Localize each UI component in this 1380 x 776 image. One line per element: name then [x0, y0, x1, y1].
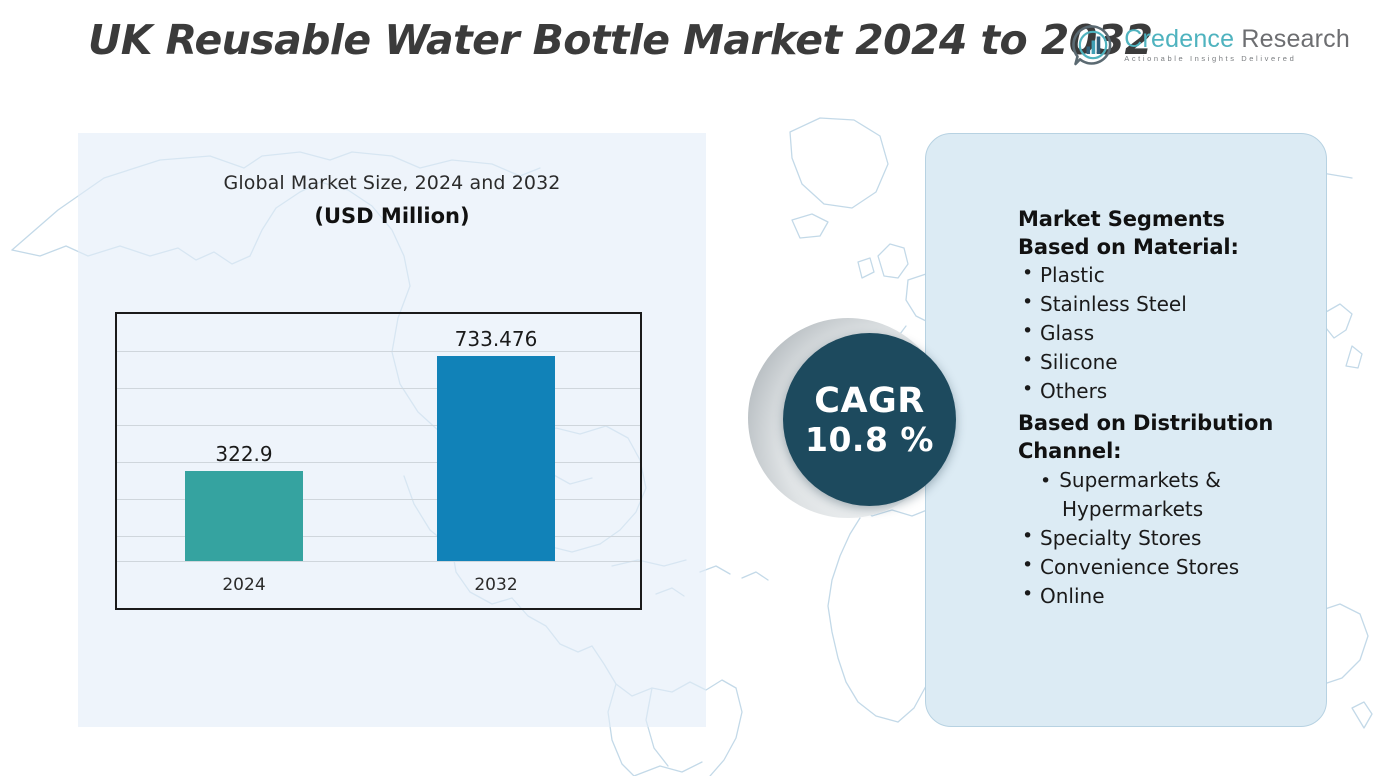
bar-group-2024: 322.9 2024 [185, 350, 303, 561]
bar-category-2032: 2032 [474, 575, 517, 595]
material-heading-line2: Based on Material: [1018, 234, 1326, 262]
bar-2032 [437, 356, 555, 561]
cagr-badge: CAGR 10.8 % [748, 318, 978, 538]
bar-2024 [185, 471, 303, 561]
chart-caption-units: (USD Million) [78, 204, 706, 228]
credence-research-logo: Credence Research Actionable Insights De… [1071, 23, 1350, 67]
cagr-value: 10.8 % [805, 423, 934, 456]
bar-chart-circle-icon [1071, 23, 1115, 67]
logo-tagline: Actionable Insights Delivered [1124, 55, 1350, 63]
list-item: Convenience Stores [1018, 553, 1326, 582]
chart-caption: Global Market Size, 2024 and 2032 (USD M… [78, 172, 706, 228]
bar-value-2032: 733.476 [455, 327, 538, 351]
cagr-circle: CAGR 10.8 % [783, 333, 956, 506]
logo-word-credence: Credence [1124, 25, 1234, 53]
header: UK Reusable Water Bottle Market 2024 to … [0, 0, 1380, 88]
cagr-label: CAGR [814, 384, 924, 419]
bar-group-2032: 733.476 2032 [437, 350, 555, 561]
list-item: Others [1018, 377, 1326, 406]
list-item: Glass [1018, 319, 1326, 348]
page-title: UK Reusable Water Bottle Market 2024 to … [88, 16, 1153, 64]
material-segment-list: Plastic Stainless Steel Glass Silicone O… [1018, 261, 1326, 406]
chart-caption-primary: Global Market Size, 2024 and 2032 [78, 172, 706, 194]
list-item: Supermarkets & Hypermarkets [1040, 466, 1315, 525]
chart-plot-area: 322.9 2024 733.476 2032 [117, 314, 640, 608]
list-item: Specialty Stores [1018, 524, 1326, 553]
logo-word-research: Research [1241, 25, 1350, 53]
bar-chart: 322.9 2024 733.476 2032 [115, 312, 642, 610]
bar-category-2024: 2024 [222, 575, 265, 595]
bar-value-2024: 322.9 [215, 442, 272, 466]
infographic-canvas: UK Reusable Water Bottle Market 2024 to … [0, 0, 1380, 776]
material-heading-line1: Market Segments [1018, 206, 1326, 234]
list-item: Stainless Steel [1018, 290, 1326, 319]
list-item: Silicone [1018, 348, 1326, 377]
distribution-channel-block: Based on Distribution Channel: Supermark… [1018, 410, 1326, 611]
channel-heading-line2: Channel: [1018, 438, 1326, 466]
list-item: Plastic [1018, 261, 1326, 290]
market-segments-panel: Market Segments Based on Material: Plast… [925, 133, 1327, 727]
material-segment-block: Market Segments Based on Material: Plast… [1018, 206, 1326, 406]
channel-heading-line1: Based on Distribution [1018, 410, 1326, 438]
list-item: Online [1018, 582, 1326, 611]
distribution-channel-list: Supermarkets & Hypermarkets Specialty St… [1018, 466, 1326, 612]
logo-wordmark: Credence Research [1124, 27, 1350, 52]
logo-text-block: Credence Research Actionable Insights De… [1124, 27, 1350, 63]
